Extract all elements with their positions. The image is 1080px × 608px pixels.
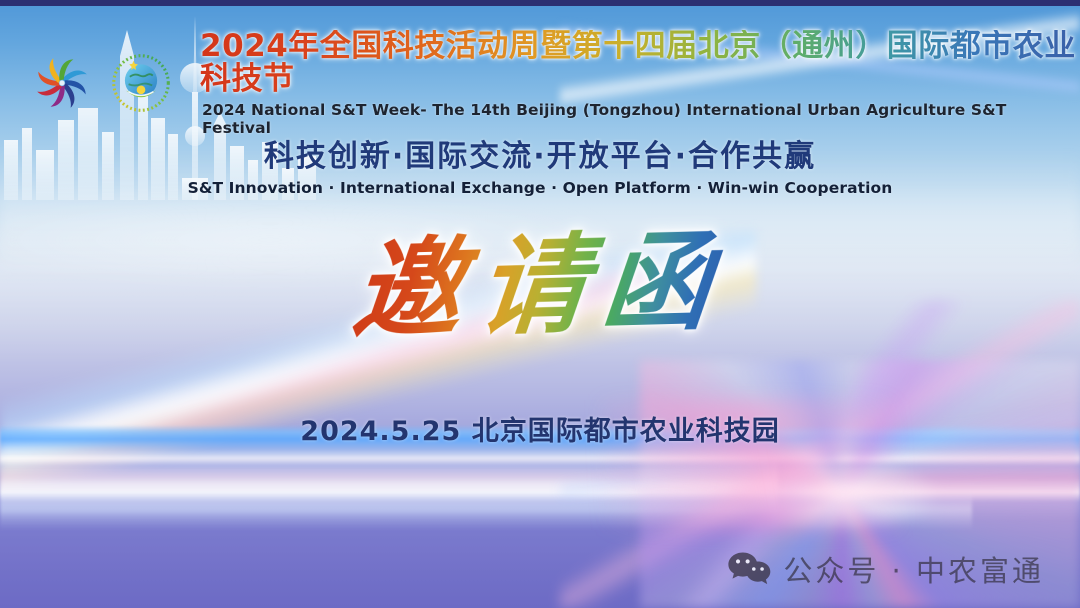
- slogan-en: S&T Innovation · International Exchange …: [0, 179, 1080, 197]
- slogan-block: 科技创新·国际交流·开放平台·合作共赢 S&T Innovation · Int…: [0, 131, 1080, 197]
- poster-header: 2024年全国科技活动周暨第十四届北京（通州）国际都市农业科技节 2024 Na…: [28, 30, 1080, 137]
- calligraphy-invitation: 邀请函: [347, 217, 733, 356]
- calligraphy-block: 邀请函: [0, 222, 1080, 362]
- wechat-icon: [727, 551, 771, 587]
- bottom-bar: [0, 0, 1080, 6]
- slogan-cn: 科技创新·国际交流·开放平台·合作共赢: [0, 131, 1080, 175]
- urban-agriculture-globe-emblem-logo: [110, 52, 172, 114]
- light-streak-highlight: [0, 455, 778, 515]
- title-block: 2024年全国科技活动周暨第十四届北京（通州）国际都市农业科技节 2024 Na…: [200, 30, 1080, 137]
- wechat-footer: 公众号 · 中农富通: [727, 548, 1044, 590]
- light-streak-lower: [0, 490, 972, 530]
- invitation-poster: 2024年全国科技活动周暨第十四届北京（通州）国际都市农业科技节 2024 Na…: [0, 0, 1080, 608]
- national-st-week-starburst-logo: [28, 52, 96, 114]
- wechat-account-label: 公众号 · 中农富通: [783, 548, 1044, 590]
- poster-title-cn: 2024年全国科技活动周暨第十四届北京（通州）国际都市农业科技节: [200, 30, 1080, 97]
- date-venue-line: 2024.5.25 北京国际都市农业科技园: [0, 409, 1080, 448]
